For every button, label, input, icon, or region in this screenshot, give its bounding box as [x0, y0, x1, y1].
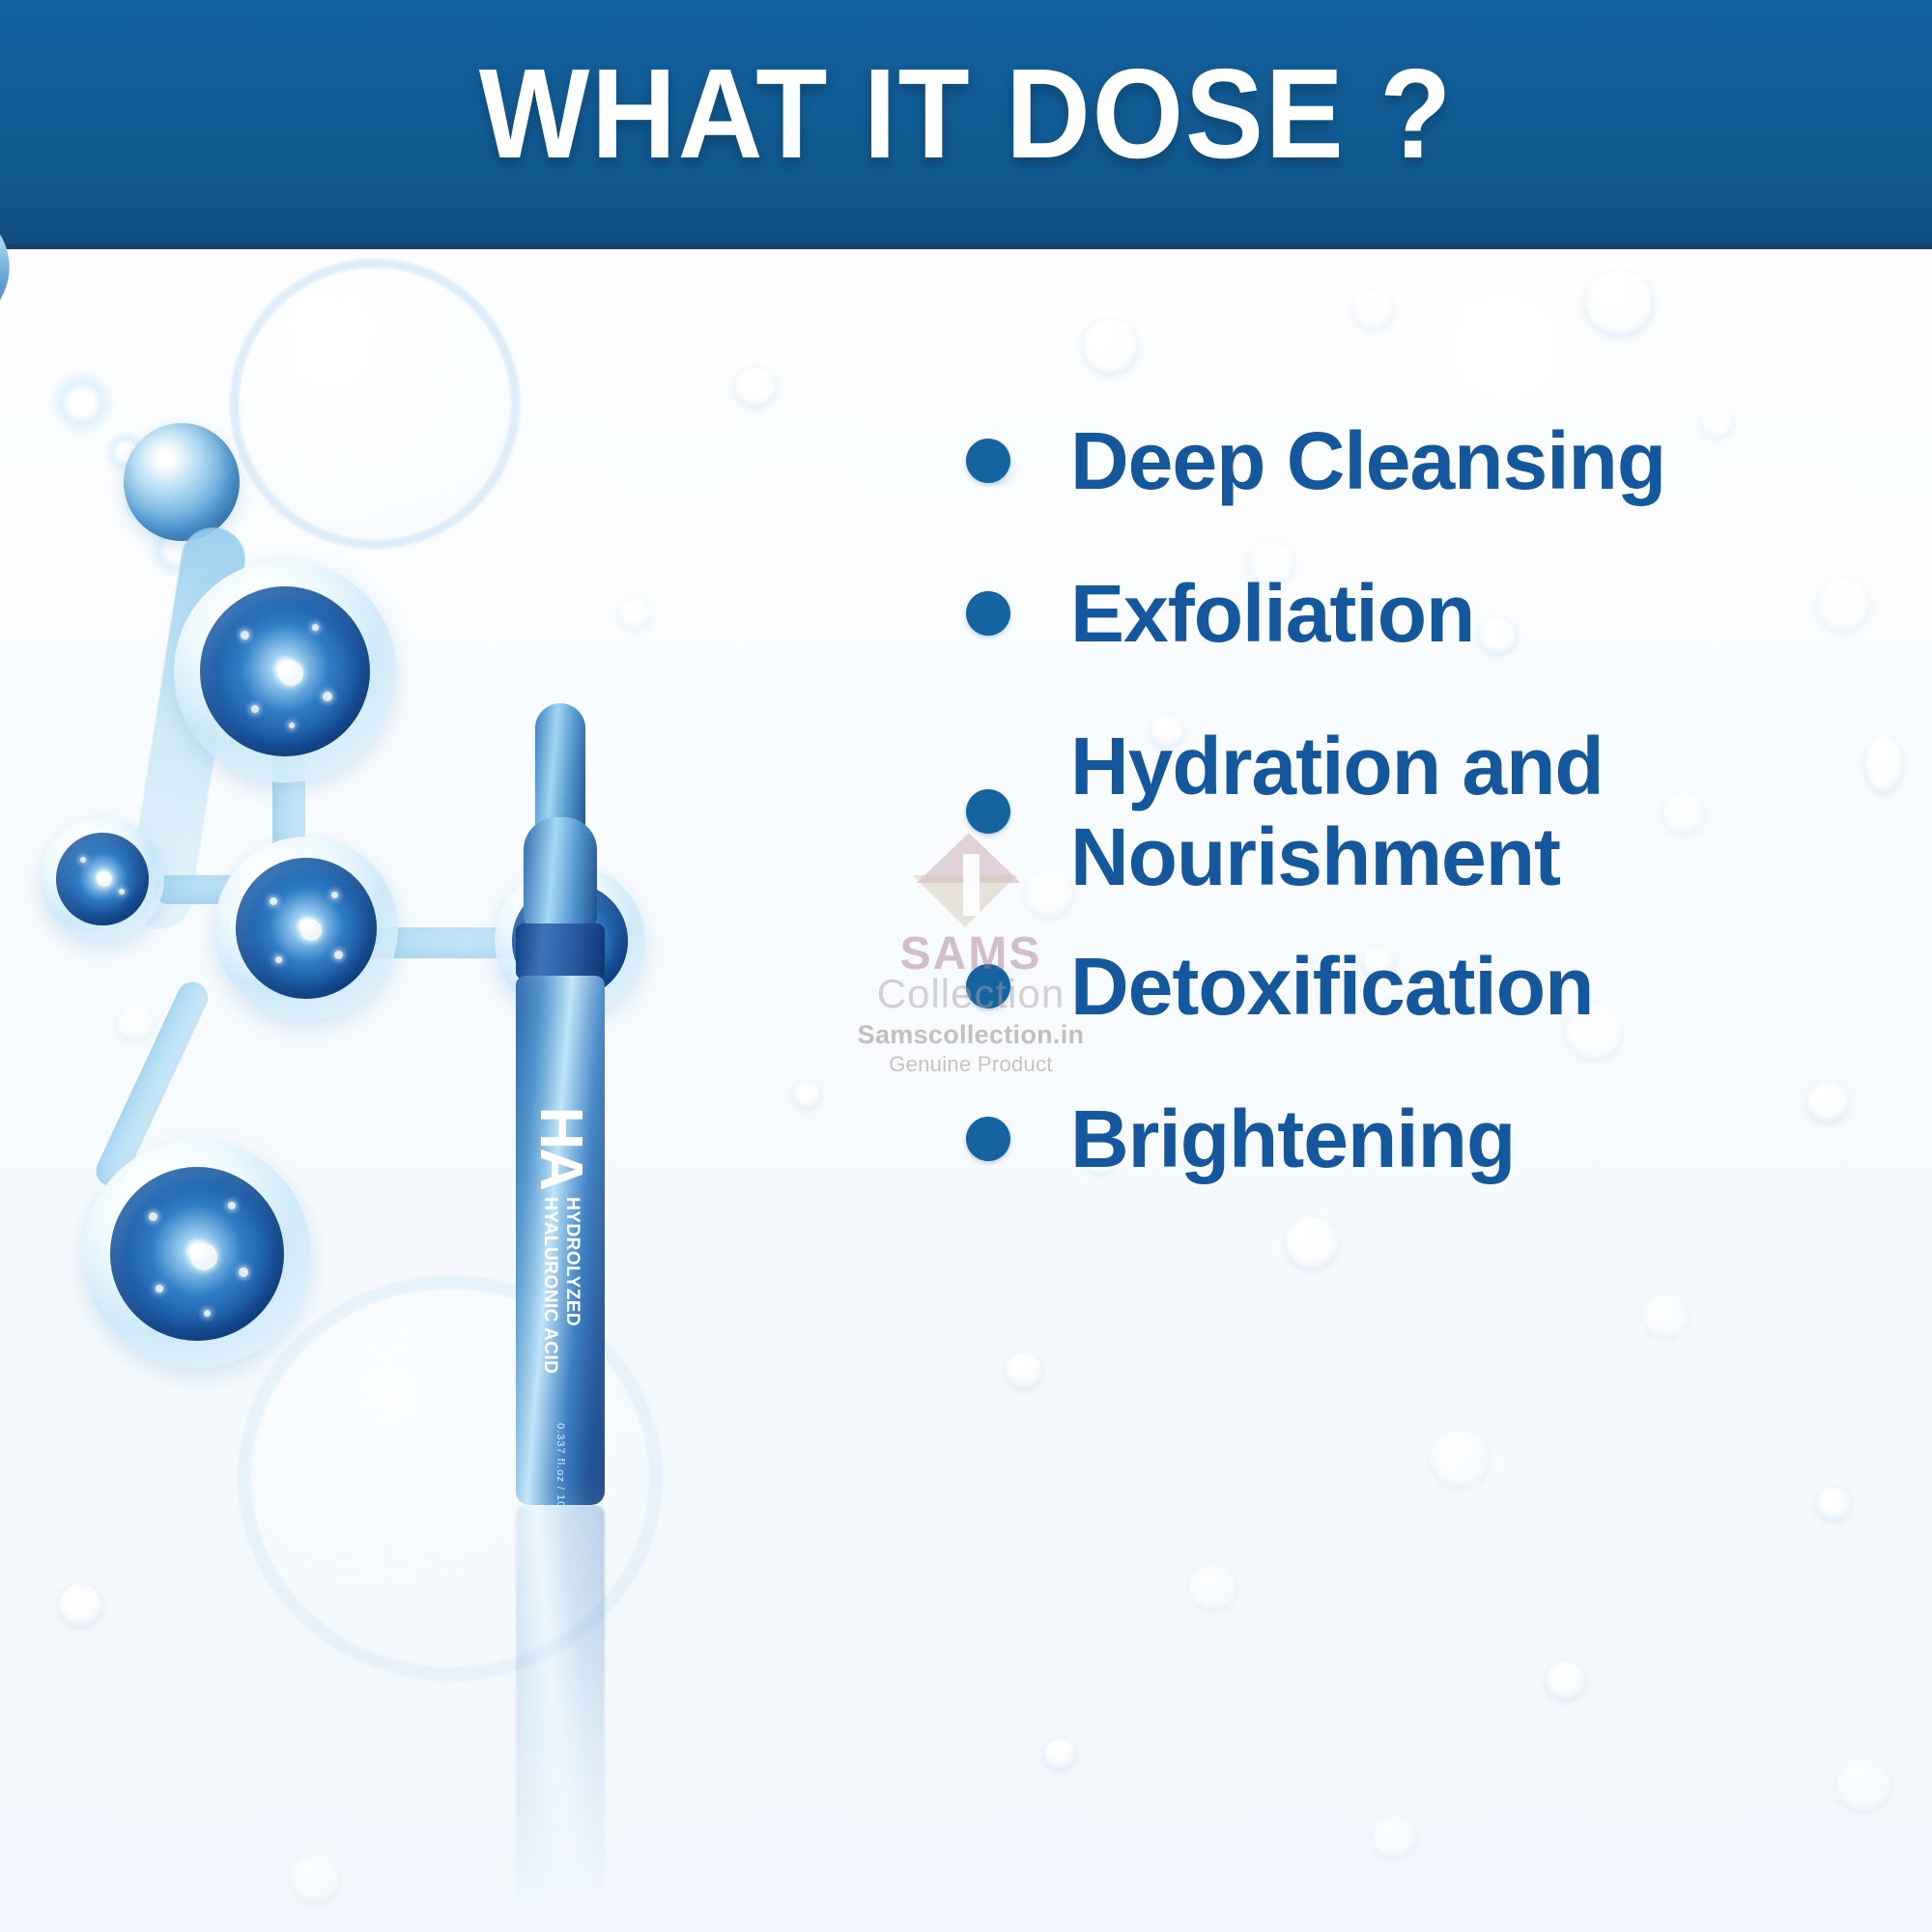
molecule-node: [41, 817, 164, 941]
bullet-dot-icon: [966, 964, 1010, 1009]
bullet-dot-icon: [966, 439, 1010, 483]
sparkle: [50, 371, 114, 435]
page-title: WHAT IT DOSE ?: [77, 50, 1855, 178]
molecule-node: [214, 837, 398, 1020]
ampoule-bottle: HA HYDROLYZED HYALURONIC ACID 0.337 fl.o…: [502, 703, 618, 1505]
benefit-item-hydration-and-nourishment[interactable]: Hydration and Nourishment: [966, 721, 1932, 902]
ampoule-label: HA HYDROLYZED HYALURONIC ACID: [533, 1107, 587, 1375]
benefit-label: Deep Cleansing: [1070, 415, 1665, 506]
droplet: [1816, 1488, 1851, 1520]
serum-droplet: [124, 423, 240, 541]
droplet: [1835, 1758, 1891, 1812]
benefit-item-detoxification[interactable]: Detoxification: [966, 941, 1932, 1032]
droplet: [1188, 1565, 1236, 1611]
droplet: [1642, 1294, 1689, 1339]
bullet-dot-icon: [966, 591, 1010, 636]
molecule-node: [174, 560, 396, 782]
ampoule-shoulder: [524, 817, 597, 933]
ampoule-reflection-body: [516, 1505, 605, 1920]
ampoule-body: HA HYDROLYZED HYALURONIC ACID 0.337 fl.o…: [516, 976, 605, 1505]
benefits-list: Deep Cleansing Exfoliation Hydration and…: [966, 415, 1932, 1246]
product-artwork: HA HYDROLYZED HYALURONIC ACID 0.337 fl.o…: [0, 249, 966, 1932]
droplet: [1430, 1430, 1490, 1488]
droplet: [1352, 290, 1393, 330]
header-banner: WHAT IT DOSE ?: [0, 0, 1932, 249]
molecule-node-core: [200, 586, 370, 756]
bullet-dot-icon: [966, 789, 1010, 834]
droplet: [1546, 1662, 1586, 1700]
droplet: [1372, 1816, 1416, 1859]
droplet: [1043, 1739, 1076, 1770]
product-line-1: HYDROLYZED: [562, 1197, 582, 1374]
molecule-node-core: [236, 858, 377, 999]
product-name: HA: [533, 1107, 587, 1190]
ampoule-neck-ring: [516, 923, 605, 980]
product-line-2: HYALURONIC ACID: [540, 1197, 559, 1374]
bullet-dot-icon: [966, 1117, 1010, 1161]
benefit-label: Exfoliation: [1070, 568, 1474, 659]
molecule-node: [83, 1140, 311, 1368]
bubble-ring: [230, 259, 520, 549]
benefit-item-exfoliation[interactable]: Exfoliation: [966, 568, 1932, 659]
molecule-node-core: [110, 1167, 284, 1341]
benefit-label: Hydration and Nourishment: [1070, 721, 1804, 902]
droplet: [1082, 319, 1138, 375]
ampoule-reflection: [502, 1505, 618, 1920]
ampoule-tip: [535, 703, 585, 829]
product-volume: 0.337 fl.oz / 10 ml: [554, 1423, 566, 1505]
benefit-label: Brightening: [1070, 1094, 1515, 1184]
benefit-item-deep-cleansing[interactable]: Deep Cleansing: [966, 415, 1932, 506]
poster-canvas: WHAT IT DOSE ?: [0, 0, 1932, 1932]
benefit-label: Detoxification: [1070, 941, 1593, 1032]
droplet: [1005, 1352, 1043, 1389]
droplet: [1584, 270, 1654, 336]
benefit-item-brightening[interactable]: Brightening: [966, 1094, 1932, 1184]
molecule-node-core: [56, 833, 149, 925]
